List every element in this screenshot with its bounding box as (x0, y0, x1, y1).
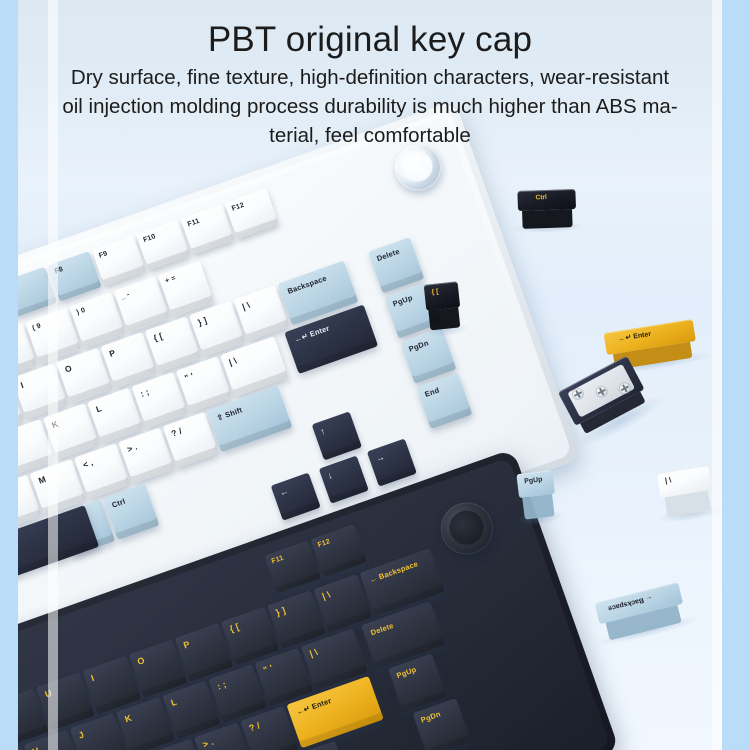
keycap-legend: Ctrl (111, 498, 126, 510)
pgup-lightblue[interactable]: PgUp (516, 470, 557, 520)
keycap-legend: M (37, 475, 47, 485)
content-panel: PBT original key cap Dry surface, fine t… (18, 0, 722, 750)
keycap-legend: { [ (152, 332, 163, 343)
keycap-legend: | \ (241, 301, 251, 312)
keycap-legend: ← (278, 486, 290, 498)
backspace-lightblue[interactable]: ← Backspace (594, 582, 687, 642)
keycap-legend: P (108, 348, 116, 358)
keycap-legend: ) 0 (76, 307, 87, 317)
keycap-legend: ←↵ Enter (293, 325, 330, 344)
keycap-legend: F10 (142, 233, 156, 244)
keycap-front-face (429, 307, 460, 330)
keycap-legend: ←↵ Enter (295, 697, 332, 716)
keycap-legend: < , (82, 458, 95, 469)
keycap-legend: } ] (197, 316, 208, 327)
keycap-legend: ↓ (326, 471, 333, 481)
subtitle-line-2: oil injection molding process durability… (20, 93, 720, 122)
page-title: PBT original key cap (18, 20, 722, 60)
keycap-legend: H (31, 746, 40, 750)
keycap-front-face (522, 494, 555, 520)
keycap-legend: P (182, 640, 191, 651)
keycap-legend: I (20, 381, 25, 390)
keycap-legend: Delete (370, 622, 395, 637)
subtitle-line-3: terial, feel comfortable (20, 122, 720, 151)
product-image: PBT original key cap Dry surface, fine t… (0, 0, 750, 750)
keycap-legend: F7 (18, 282, 20, 291)
keycap-legend: | \ (664, 476, 671, 484)
keycap-legend: { [ (229, 622, 241, 634)
keycap-legend: Backspace (287, 275, 328, 296)
keycap-legend: " ' (262, 664, 274, 676)
keycap-legend: } ] (275, 606, 287, 618)
keycap-legend: I (90, 674, 96, 683)
keycap-legend: | \ (228, 356, 238, 367)
keycap-legend: F9 (98, 250, 108, 259)
keycap-legend: " ' (184, 372, 195, 383)
keycap-legend: J (78, 730, 86, 740)
keycap-legend: ? / (170, 427, 183, 439)
left-edge-band (0, 0, 18, 750)
keycap-legend: K (124, 714, 133, 725)
keycap-legend: PgUp (396, 666, 418, 680)
keycap-legend: ⇧ Shift (216, 406, 243, 422)
keycap-legend: L (170, 698, 178, 708)
keycap-legend: ↑ (319, 427, 326, 437)
ctrl-black[interactable]: Ctrl (517, 189, 576, 229)
header-block: PBT original key cap Dry surface, fine t… (18, 0, 722, 150)
keycap-legend: ( 9 (31, 323, 42, 333)
keycap-legend: > . (202, 738, 215, 750)
keycap-legend: Delete (376, 248, 401, 263)
keycap-legend: PgUp (392, 294, 414, 308)
keycap-legend: F11 (187, 218, 201, 229)
keycap-legend: L (95, 404, 103, 414)
keycap-legend: F12 (317, 538, 331, 549)
pipe-white[interactable]: | \ (657, 466, 715, 518)
keycap-legend: PgDn (420, 710, 442, 724)
keycap-legend: O (136, 656, 146, 667)
keycap-legend: ? / (248, 721, 261, 733)
keycap-legend: + = (164, 275, 176, 285)
keycap-legend: : ; (139, 387, 150, 398)
keycap-legend: > . (126, 442, 139, 453)
keycap-legend: _ - (120, 291, 131, 301)
keycap-legend: Ctrl (536, 195, 547, 202)
keycap-legend: F12 (231, 202, 245, 213)
keycap-legend: → (374, 452, 386, 464)
keycap-legend: F11 (271, 555, 285, 566)
subtitle-line-1: Dry surface, fine texture, high-definiti… (20, 64, 720, 93)
right-edge-band (722, 0, 750, 750)
keycap-legend: | \ (321, 590, 332, 601)
keycap-legend: End (424, 386, 440, 398)
keycap-top-face (424, 281, 461, 310)
bracket-black[interactable]: { [ (424, 281, 463, 330)
keycap-front-face (522, 209, 572, 229)
keycap-legend: PgDn (408, 339, 430, 353)
keycap-legend: O (64, 364, 73, 374)
keycap-legend: { [ (431, 288, 439, 296)
keycap-legend: | \ (308, 648, 319, 659)
keycap-legend: : ; (216, 680, 228, 692)
